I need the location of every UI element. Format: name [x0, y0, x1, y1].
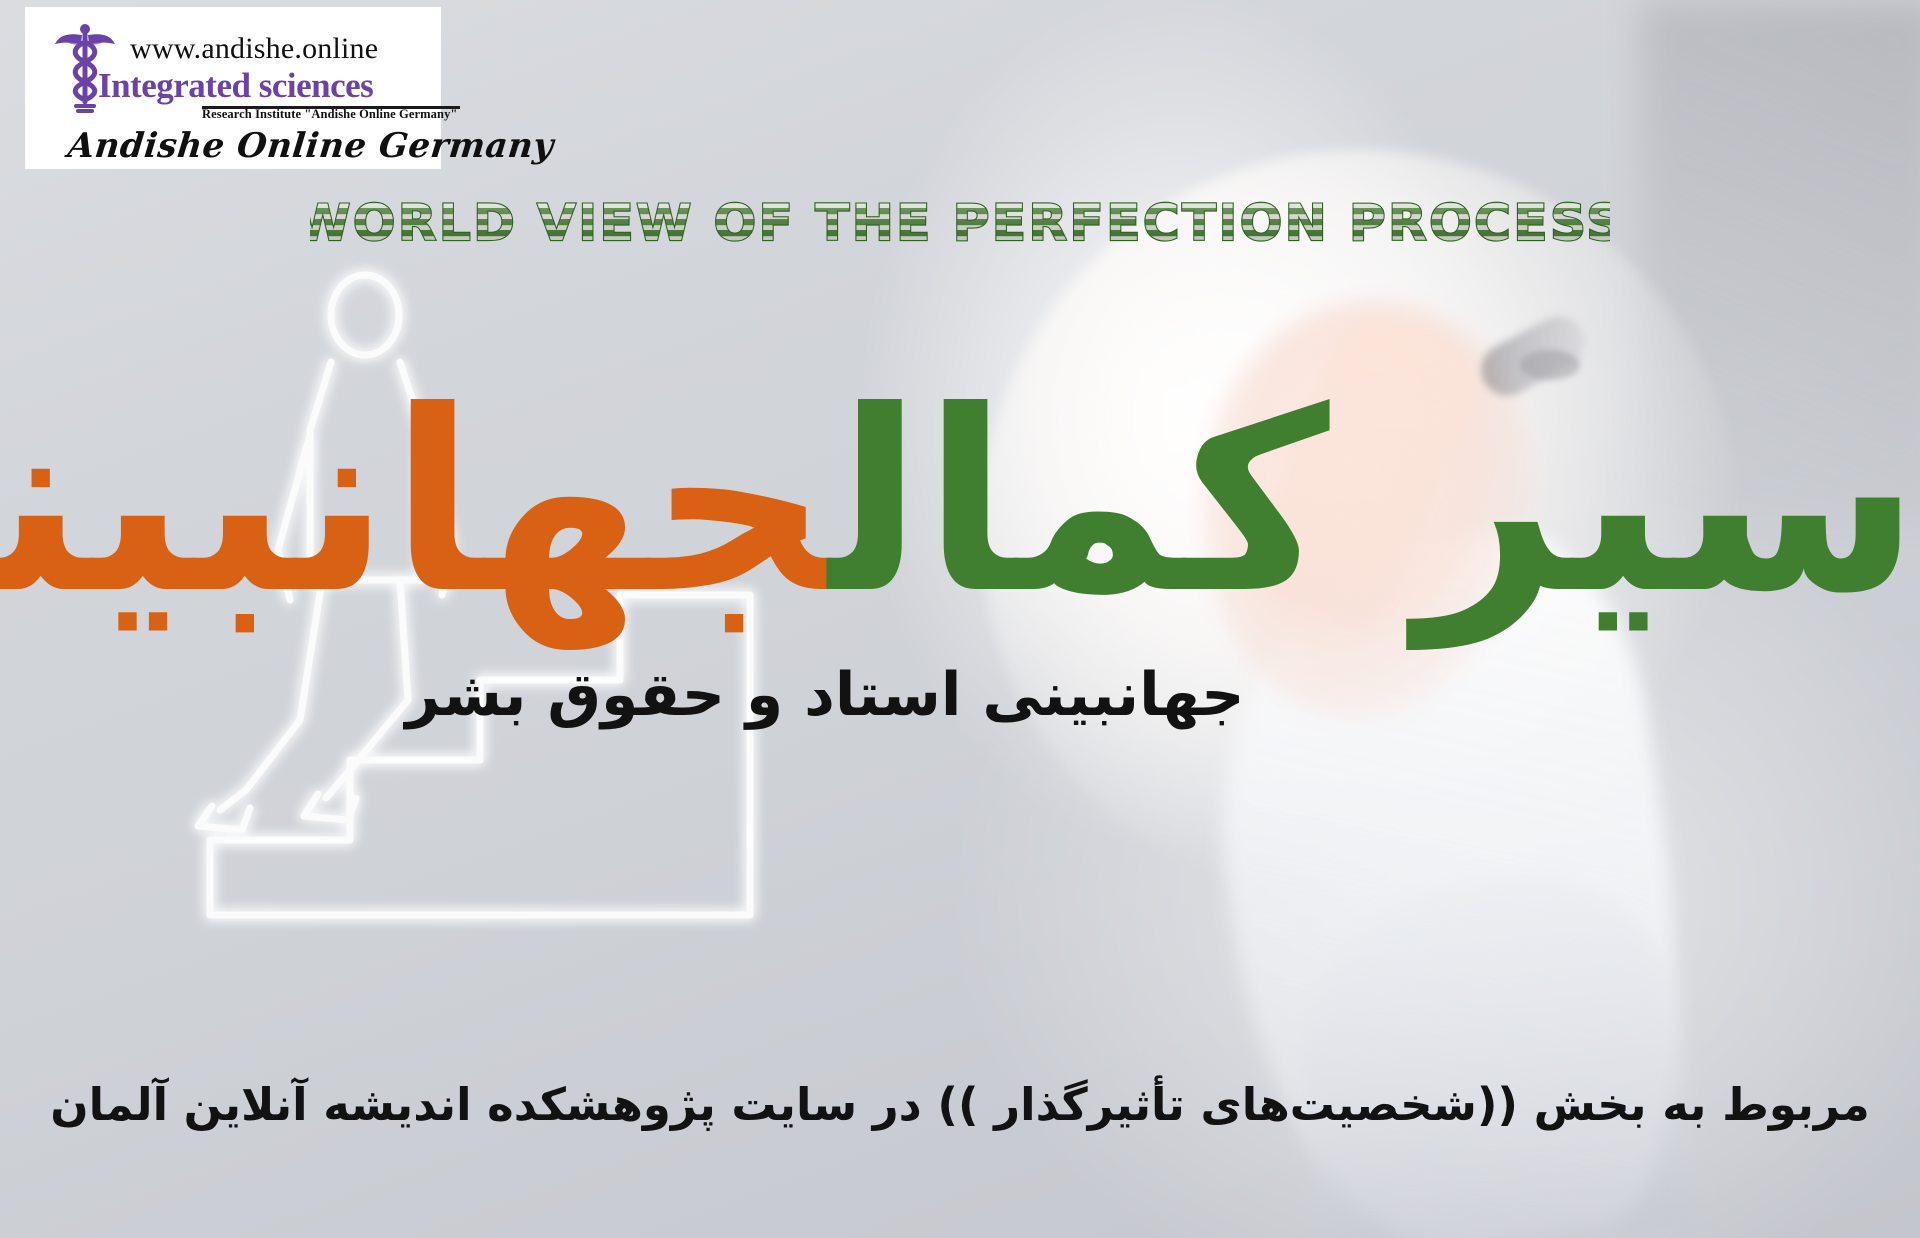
logo-url[interactable]: www.andishe.online — [130, 32, 378, 66]
banner-title: WORLD VIEW OF THE PERFECTION PROCESS WOR… — [0, 186, 1920, 258]
photo-sleeve — [1282, 861, 1698, 1238]
page-title: سیر کمالجهانبینی — [0, 372, 1920, 635]
banner-canvas: www.andishe.online Integrated sciences R… — [0, 0, 1920, 1238]
headline-green: سیر کمال — [829, 357, 1920, 648]
footer-note: مربوط به بخش ((شخصیت‌های تأثیرگذار )) در… — [0, 1078, 1920, 1131]
sub-headline: جهانبینی استاد و حقوق بشر — [0, 660, 1920, 730]
svg-text:WORLD VIEW OF THE PERFECTION P: WORLD VIEW OF THE PERFECTION PROCESS — [310, 194, 1610, 252]
logo-name: Integrated sciences — [98, 66, 373, 106]
logo-box[interactable]: www.andishe.online Integrated sciences R… — [26, 8, 440, 168]
headline-orange: جهانبینی — [0, 357, 829, 648]
logo-script-name: Andishe Online Germany — [66, 126, 556, 166]
logo-subtitle: Research Institute "Andishe Online Germa… — [202, 107, 457, 122]
sub-headline-text: جهانبینی استاد و حقوق بشر — [406, 660, 1245, 730]
